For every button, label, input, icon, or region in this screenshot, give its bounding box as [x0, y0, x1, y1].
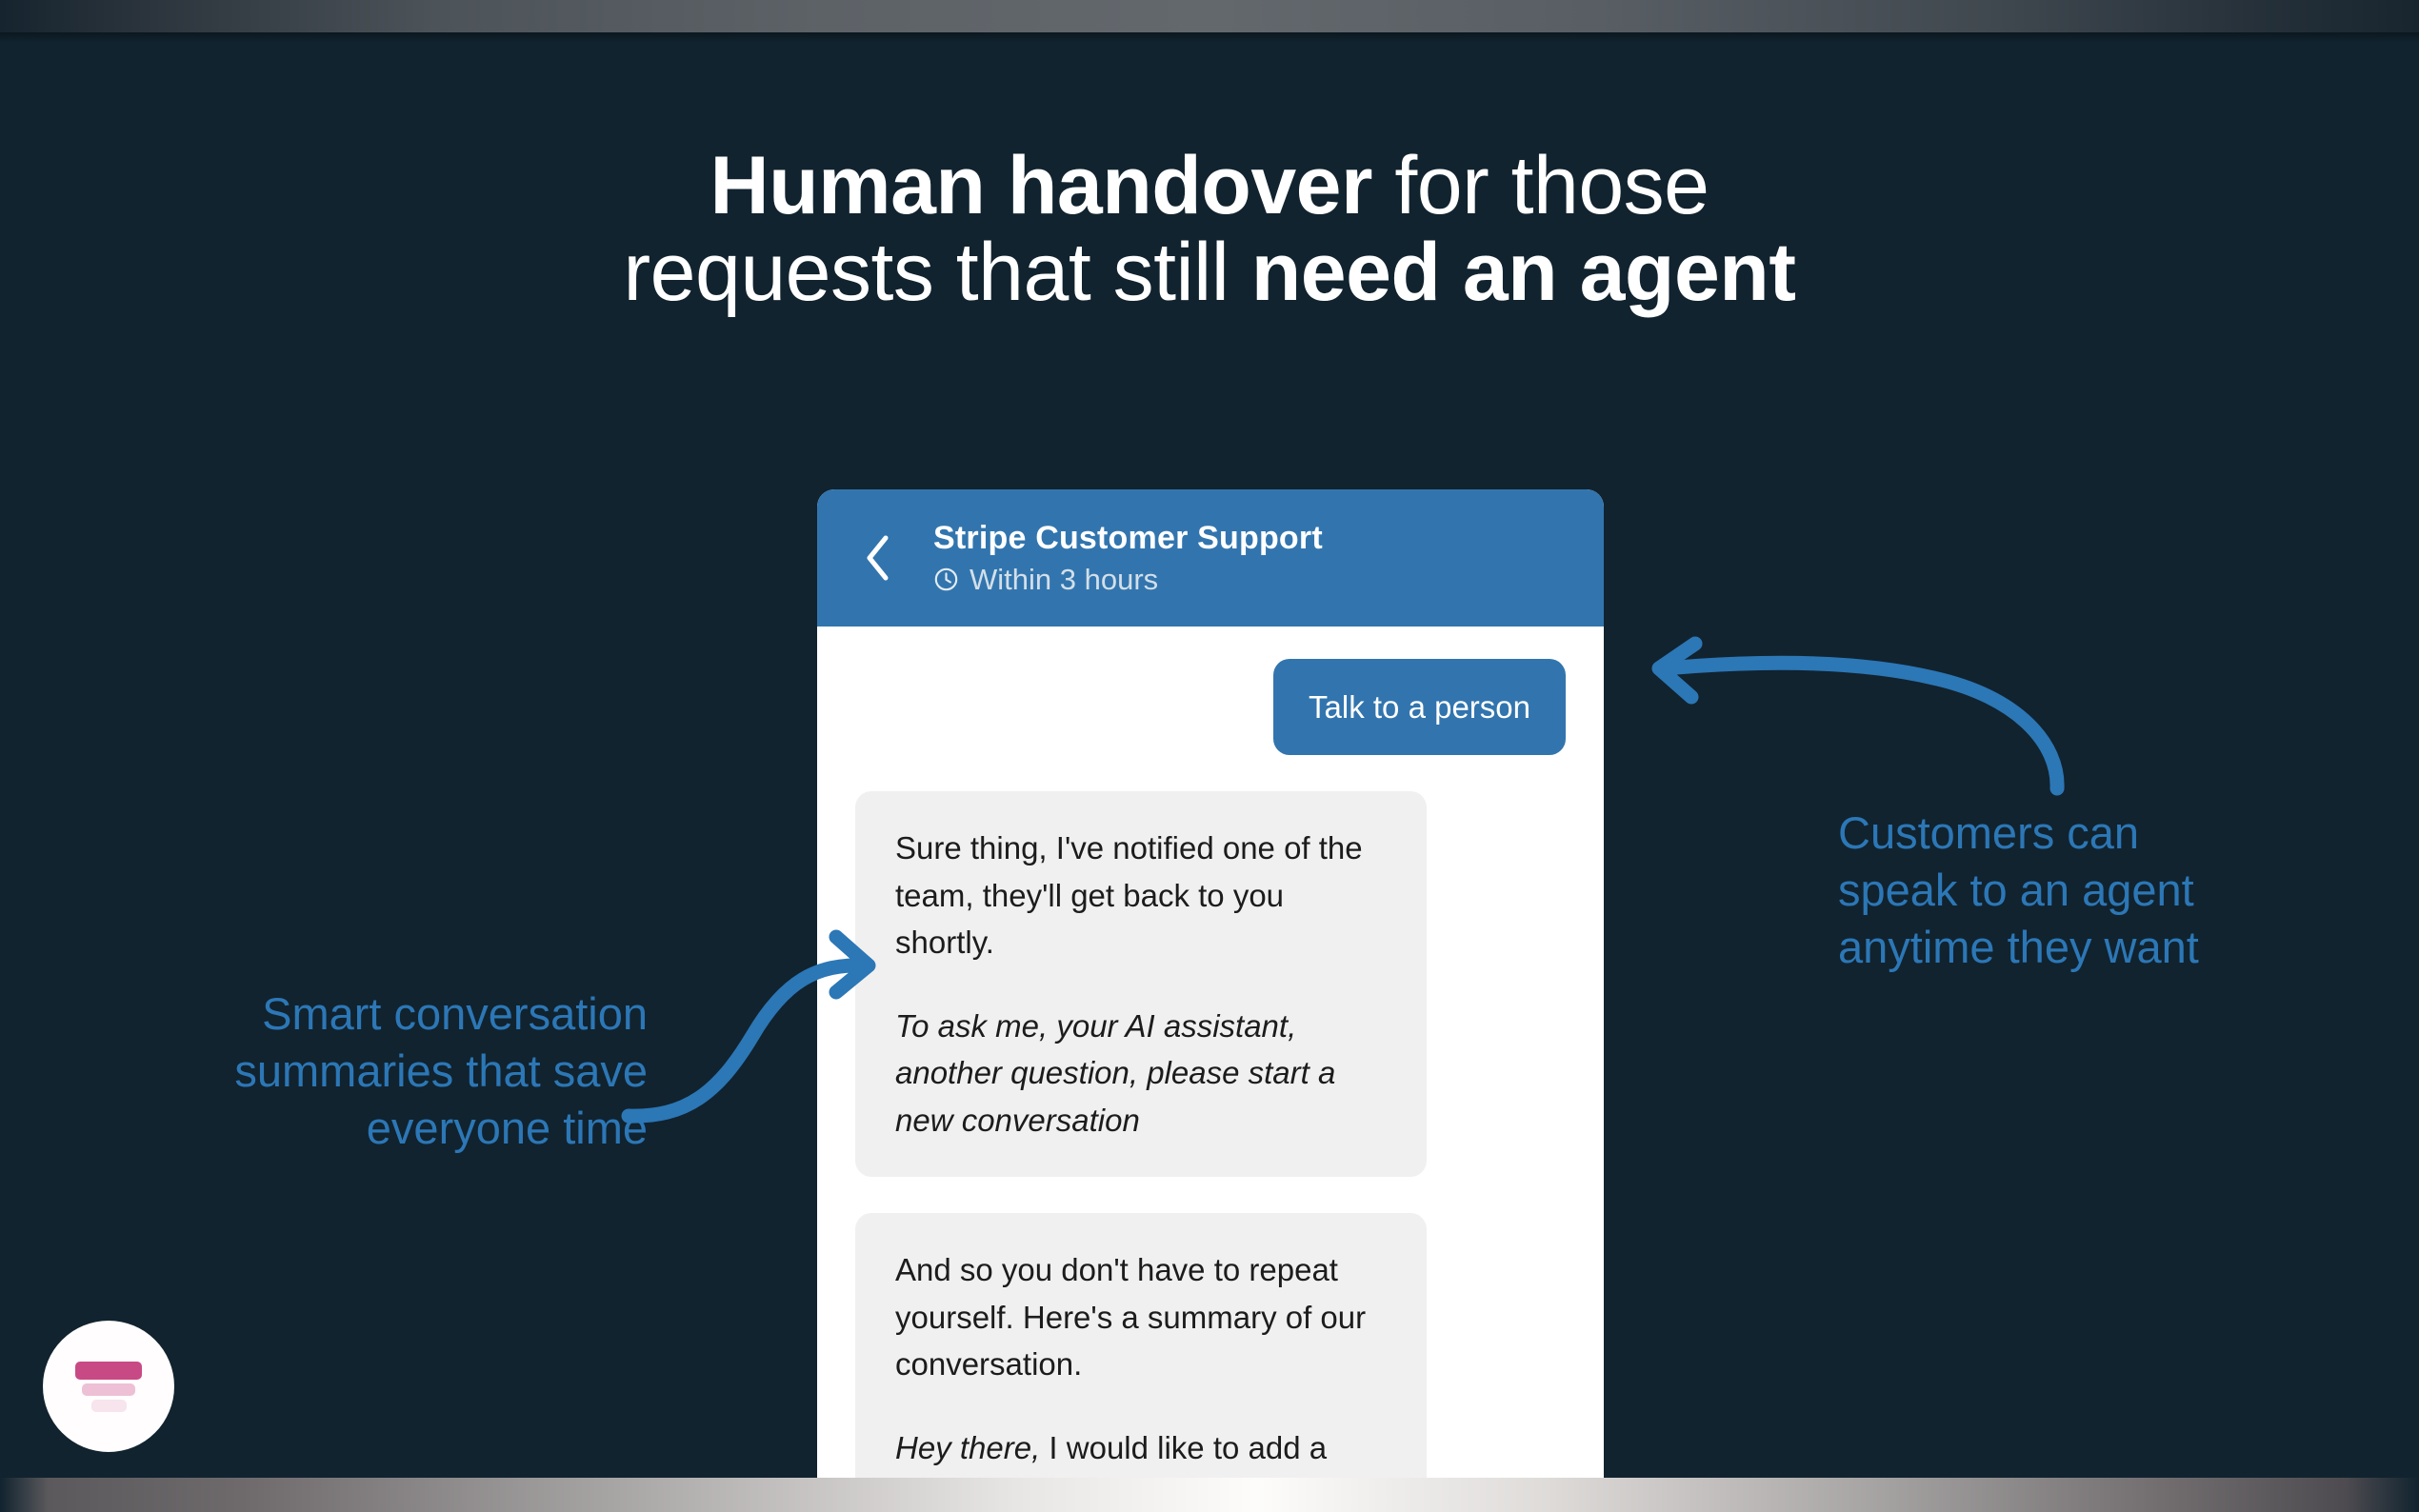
summary-line-1: I would like to add a — [1040, 1430, 1327, 1465]
chat-widget: Stripe Customer Support Within 3 hours T… — [817, 489, 1604, 1512]
page-title-plain-2: requests that still — [624, 227, 1251, 318]
annotation-left-line-1: Smart conversation — [57, 985, 648, 1043]
arrow-right-icon — [1619, 638, 2095, 857]
clock-icon — [933, 567, 959, 592]
incoming-message-bubble-1: Sure thing, I've notified one of the tea… — [855, 791, 1427, 1177]
top-edge-band — [0, 0, 2419, 32]
page-title-line-1: Human handover for those — [0, 143, 2419, 229]
outgoing-message-row: Talk to a person — [855, 659, 1566, 755]
funnel-icon-bar-1 — [75, 1362, 142, 1380]
incoming-message-bubble-2: And so you don't have to repeat yourself… — [855, 1213, 1427, 1512]
summary-greeting: Hey there, — [895, 1430, 1040, 1465]
page-title-plain-1: for those — [1372, 140, 1709, 231]
arrow-left-icon — [619, 914, 924, 1133]
annotation-left: Smart conversation summaries that save e… — [57, 985, 648, 1157]
chat-header: Stripe Customer Support Within 3 hours — [817, 489, 1604, 627]
annotation-left-line-2: summaries that save — [57, 1043, 648, 1100]
chat-response-time-label: Within 3 hours — [970, 563, 1158, 597]
top-edge-shadow — [0, 32, 2419, 42]
funnel-icon-bar-2 — [82, 1383, 135, 1396]
bottom-edge-band — [0, 1478, 2419, 1512]
page-title-line-2: requests that still need an agent — [0, 229, 2419, 316]
brand-logo — [43, 1321, 174, 1452]
message-italic-text: To ask me, your AI assistant, another qu… — [895, 1008, 1335, 1138]
annotation-right-line-2: speak to an agent — [1838, 862, 2371, 919]
chat-message-list: Talk to a person Sure thing, I've notifi… — [817, 627, 1604, 1512]
message-paragraph: And so you don't have to repeat yourself… — [895, 1246, 1387, 1388]
page-title-emphasis-1: Human handover — [710, 140, 1372, 231]
chat-header-texts: Stripe Customer Support Within 3 hours — [933, 520, 1323, 597]
annotation-right-line-3: anytime they want — [1838, 919, 2371, 976]
chevron-left-icon[interactable] — [861, 533, 893, 583]
message-paragraph-italic: To ask me, your AI assistant, another qu… — [895, 1003, 1387, 1144]
page-title-emphasis-2: need an agent — [1251, 227, 1796, 318]
chat-title: Stripe Customer Support — [933, 520, 1323, 557]
page-title: Human handover for those requests that s… — [0, 143, 2419, 316]
outgoing-message-bubble[interactable]: Talk to a person — [1273, 659, 1566, 755]
annotation-left-line-3: everyone time — [57, 1100, 648, 1157]
chat-response-time: Within 3 hours — [933, 563, 1323, 597]
funnel-icon-bar-3 — [91, 1400, 127, 1412]
message-paragraph: Sure thing, I've notified one of the tea… — [895, 825, 1387, 966]
